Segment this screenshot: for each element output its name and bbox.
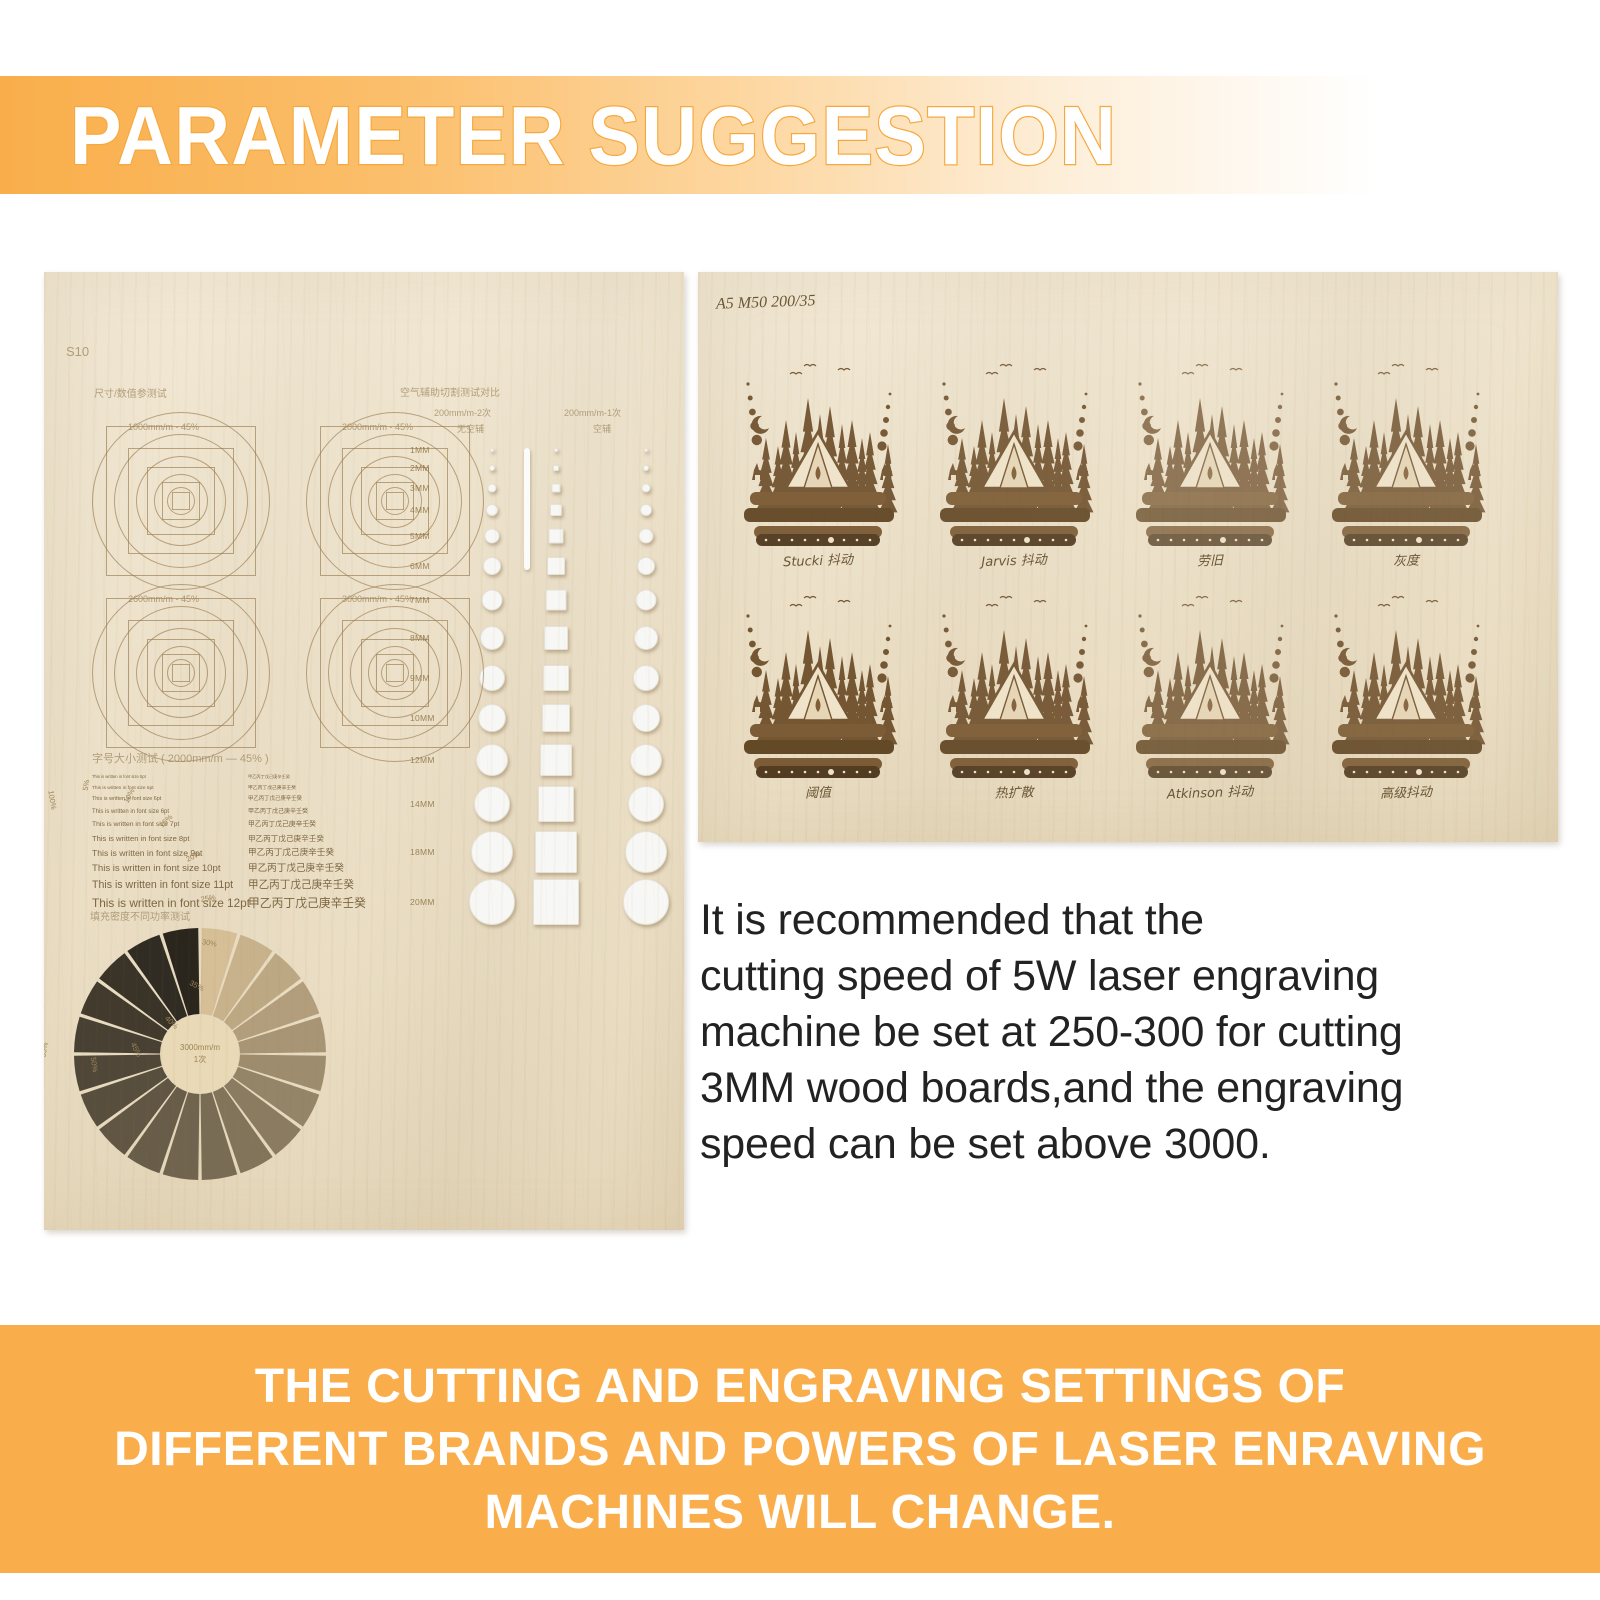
cut-test-size-label: 14MM — [410, 799, 435, 809]
recommendation-line: speed can be set above 3000. — [700, 1116, 1562, 1172]
engraving-sample-tile — [916, 320, 1112, 552]
cut-test-circle-chip — [471, 831, 513, 873]
cut-test-circle-chip — [489, 465, 495, 471]
infographic-page: PARAMETER SUGGESTION S10 尺寸/数值参测试 1000mm… — [0, 0, 1600, 1600]
power-wheel-percent-label: 55% — [44, 1042, 50, 1058]
footer-line: THE CUTTING AND ENGRAVING SETTINGS OF — [0, 1355, 1600, 1418]
engraving-sample-tile — [720, 320, 916, 552]
engraving-sample-grid: Stucki 抖动Jarvis 抖动劳旧灰度阈值热扩散Atkinson 抖动高级… — [698, 272, 1558, 842]
cut-test-heading: 空气辅助切割测试对比 — [400, 384, 500, 399]
recommendation-text: It is recommended that thecutting speed … — [700, 892, 1562, 1172]
cut-test-circle-chip — [488, 484, 497, 493]
cut-test-circle-chip — [639, 529, 654, 544]
camping-scene-engraving — [916, 320, 1112, 552]
cut-test-circle-chip — [636, 590, 657, 611]
cut-test-circle-chip — [490, 448, 494, 452]
recommendation-line: cutting speed of 5W laser engraving — [700, 948, 1562, 1004]
hub-line-1: 3000mm/m — [180, 1042, 220, 1054]
engraving-sample-caption: Stucki 抖动 — [783, 549, 854, 570]
cut-test-circle-chip — [625, 831, 667, 873]
cut-test-circle-chip — [632, 704, 660, 732]
cut-test-square-chip — [549, 529, 564, 544]
ring-pattern-3 — [92, 584, 272, 764]
ring-pattern-1 — [92, 412, 272, 592]
engraving-sample-tile — [720, 552, 916, 784]
engraving-sample-caption: 高级抖动 — [1380, 781, 1433, 802]
cut-test-circle-chip — [634, 626, 658, 650]
power-density-wheel: 3000mm/m 1次 5%10%15%20%25%30%35%40%45%50… — [68, 920, 332, 1188]
recommendation-line: machine be set at 250-300 for cutting — [700, 1004, 1562, 1060]
recommendation-line: It is recommended that the — [700, 892, 1562, 948]
camping-scene-engraving — [1308, 552, 1504, 784]
cut-test-square-chip — [550, 504, 562, 516]
footer-line: DIFFERENT BRANDS AND POWERS OF LASER ENR… — [0, 1418, 1600, 1481]
cut-test-square-chip — [553, 465, 559, 471]
ring-section-heading: 尺寸/数值参测试 — [94, 385, 167, 400]
ring-pattern-2 — [306, 412, 486, 592]
cut-test-circle-chip — [623, 879, 669, 925]
cut-test-square-chip — [546, 590, 567, 611]
cut-test-size-label: 18MM — [410, 847, 435, 857]
power-wheel-percent-label: 5% — [81, 779, 92, 791]
engraving-sample-tile — [1308, 552, 1504, 784]
cut-test-square-chip — [547, 557, 565, 575]
ring-pattern-4 — [306, 584, 486, 764]
font-test-cn-line: 甲乙丙丁戊己庚辛壬癸 — [248, 861, 366, 877]
font-test-line: This is written in font size 5pt — [92, 772, 250, 783]
engraving-sample-caption: Jarvis 抖动 — [981, 549, 1047, 570]
cut-test-circle-chip — [640, 504, 652, 516]
cut-test-circle-chip — [485, 529, 500, 544]
cut-test-circle-chip — [644, 448, 648, 452]
camping-scene-engraving — [916, 552, 1112, 784]
camping-scene-engraving — [720, 552, 916, 784]
footer-line: MACHINES WILL CHANGE. — [0, 1481, 1600, 1544]
cut-test-square-chip — [533, 879, 579, 925]
font-test-cn-line: 甲乙丙丁戊己庚辛壬癸 — [248, 832, 366, 846]
camping-scene-engraving — [1112, 552, 1308, 784]
font-test-line: This is written in font size 10pt — [92, 861, 250, 877]
engraving-sample-caption: Atkinson 抖动 — [1166, 780, 1253, 802]
page-title: PARAMETER SUGGESTION — [70, 88, 1117, 184]
engraving-sample-caption: 劳旧 — [1197, 550, 1224, 570]
font-test-line: This is written in font size 9pt — [92, 846, 250, 861]
footer-notice: THE CUTTING AND ENGRAVING SETTINGS OFDIF… — [0, 1355, 1600, 1544]
cut-test-divider — [524, 448, 530, 570]
cut-test-circle-chip — [628, 786, 664, 822]
cut-test-square-chip — [535, 831, 577, 873]
camping-scene-engraving — [1112, 320, 1308, 552]
font-test-heading: 字号大小测试 ( 2000mm/m — 45% ) — [92, 750, 269, 766]
engraving-sample-tile — [1112, 320, 1308, 552]
ring-label-1: 1000mm/m - 45% — [128, 422, 199, 432]
font-test-cn-line: 甲乙丙丁戊己庚辛壬癸 — [248, 894, 366, 912]
cut-test-circle-chip — [486, 504, 498, 516]
camping-scene-engraving — [1308, 320, 1504, 552]
board-corner-mark: S10 — [66, 344, 89, 359]
cut-test-circle-chip — [642, 484, 651, 493]
right-sample-board: A5 M50 200/35 Stucki 抖动Jarvis 抖动劳旧灰度阈值热扩… — [698, 272, 1558, 842]
cut-test-circle-chip — [633, 665, 659, 691]
cut-test-square-chip — [543, 665, 569, 691]
power-wheel-percent-label: 100% — [46, 790, 58, 810]
cut-test-square-chip — [540, 744, 572, 776]
recommendation-line: 3MM wood boards,and the engraving — [700, 1060, 1562, 1116]
engraving-sample-tile — [916, 552, 1112, 784]
font-test-cn-line: 甲乙丙丁戊己庚辛壬癸 — [248, 772, 366, 783]
ring-label-3: 2600mm/m - 45% — [128, 594, 199, 604]
board-handwritten-header: A5 M50 200/35 — [716, 292, 816, 313]
cut-test-circle-chip — [637, 557, 655, 575]
engraving-sample-caption: 阈值 — [805, 782, 832, 802]
font-test-cn-line: 甲乙丙丁戊己庚辛壬癸 — [248, 783, 366, 794]
font-test-cn-line: 甲乙丙丁戊己庚辛壬癸 — [248, 794, 366, 806]
font-test-english-block: This is written in font size 5ptThis is … — [92, 772, 250, 912]
cut-test-square-chip — [554, 448, 558, 452]
ring-label-2: 2000mm/m - 45% — [342, 422, 413, 432]
hub-line-2: 1次 — [180, 1054, 220, 1066]
font-test-line: This is written in font size 8pt — [92, 832, 250, 846]
power-wheel-heading: 填充密度不同功率测试 — [90, 908, 190, 923]
font-test-line: This is written in font size 11pt — [92, 877, 250, 894]
engraving-sample-tile — [1308, 320, 1504, 552]
left-test-board: S10 尺寸/数值参测试 1000mm/m - 45% — [44, 272, 684, 1230]
cut-test-circle-chip — [469, 879, 515, 925]
font-test-line: This is written in font size 5pt — [92, 783, 250, 794]
font-test-cn-line: 甲乙丙丁戊己庚辛壬癸 — [248, 818, 366, 831]
font-test-cn-line: 甲乙丙丁戊己庚辛壬癸 — [248, 806, 366, 819]
cut-test-square-chip — [538, 786, 574, 822]
font-test-line: This is written in font size 6pt — [92, 794, 250, 806]
cut-test-square-chip — [542, 704, 570, 732]
cut-col-header-mode-1: 无空辅 — [457, 422, 484, 435]
cut-test-square-chip — [552, 484, 561, 493]
cut-test-square-chip — [544, 626, 568, 650]
font-test-cn-line: 甲乙丙丁戊己庚辛壬癸 — [248, 846, 366, 861]
cut-test-circle-chip — [643, 465, 649, 471]
engraving-sample-caption: 热扩散 — [994, 781, 1034, 801]
font-test-chinese-block: 甲乙丙丁戊己庚辛壬癸甲乙丙丁戊己庚辛壬癸甲乙丙丁戊己庚辛壬癸甲乙丙丁戊己庚辛壬癸… — [248, 772, 366, 912]
font-test-cn-line: 甲乙丙丁戊己庚辛壬癸 — [248, 877, 366, 894]
cut-test-circle-chip — [474, 786, 510, 822]
cut-test-circle-chip — [630, 744, 662, 776]
ring-label-4: 3000mm/m - 45% — [342, 594, 413, 604]
cut-col-header-speed-1: 200mm/m-2次 — [434, 406, 491, 419]
engraving-sample-caption: 灰度 — [1393, 550, 1420, 570]
power-wheel-hub-label: 3000mm/m 1次 — [180, 1042, 220, 1066]
cut-col-header-speed-2: 200mm/m-1次 — [564, 406, 621, 419]
cut-col-header-mode-2: 空辅 — [593, 422, 611, 435]
camping-scene-engraving — [720, 320, 916, 552]
engraving-sample-tile — [1112, 552, 1308, 784]
cut-test-size-label: 20MM — [410, 897, 435, 907]
